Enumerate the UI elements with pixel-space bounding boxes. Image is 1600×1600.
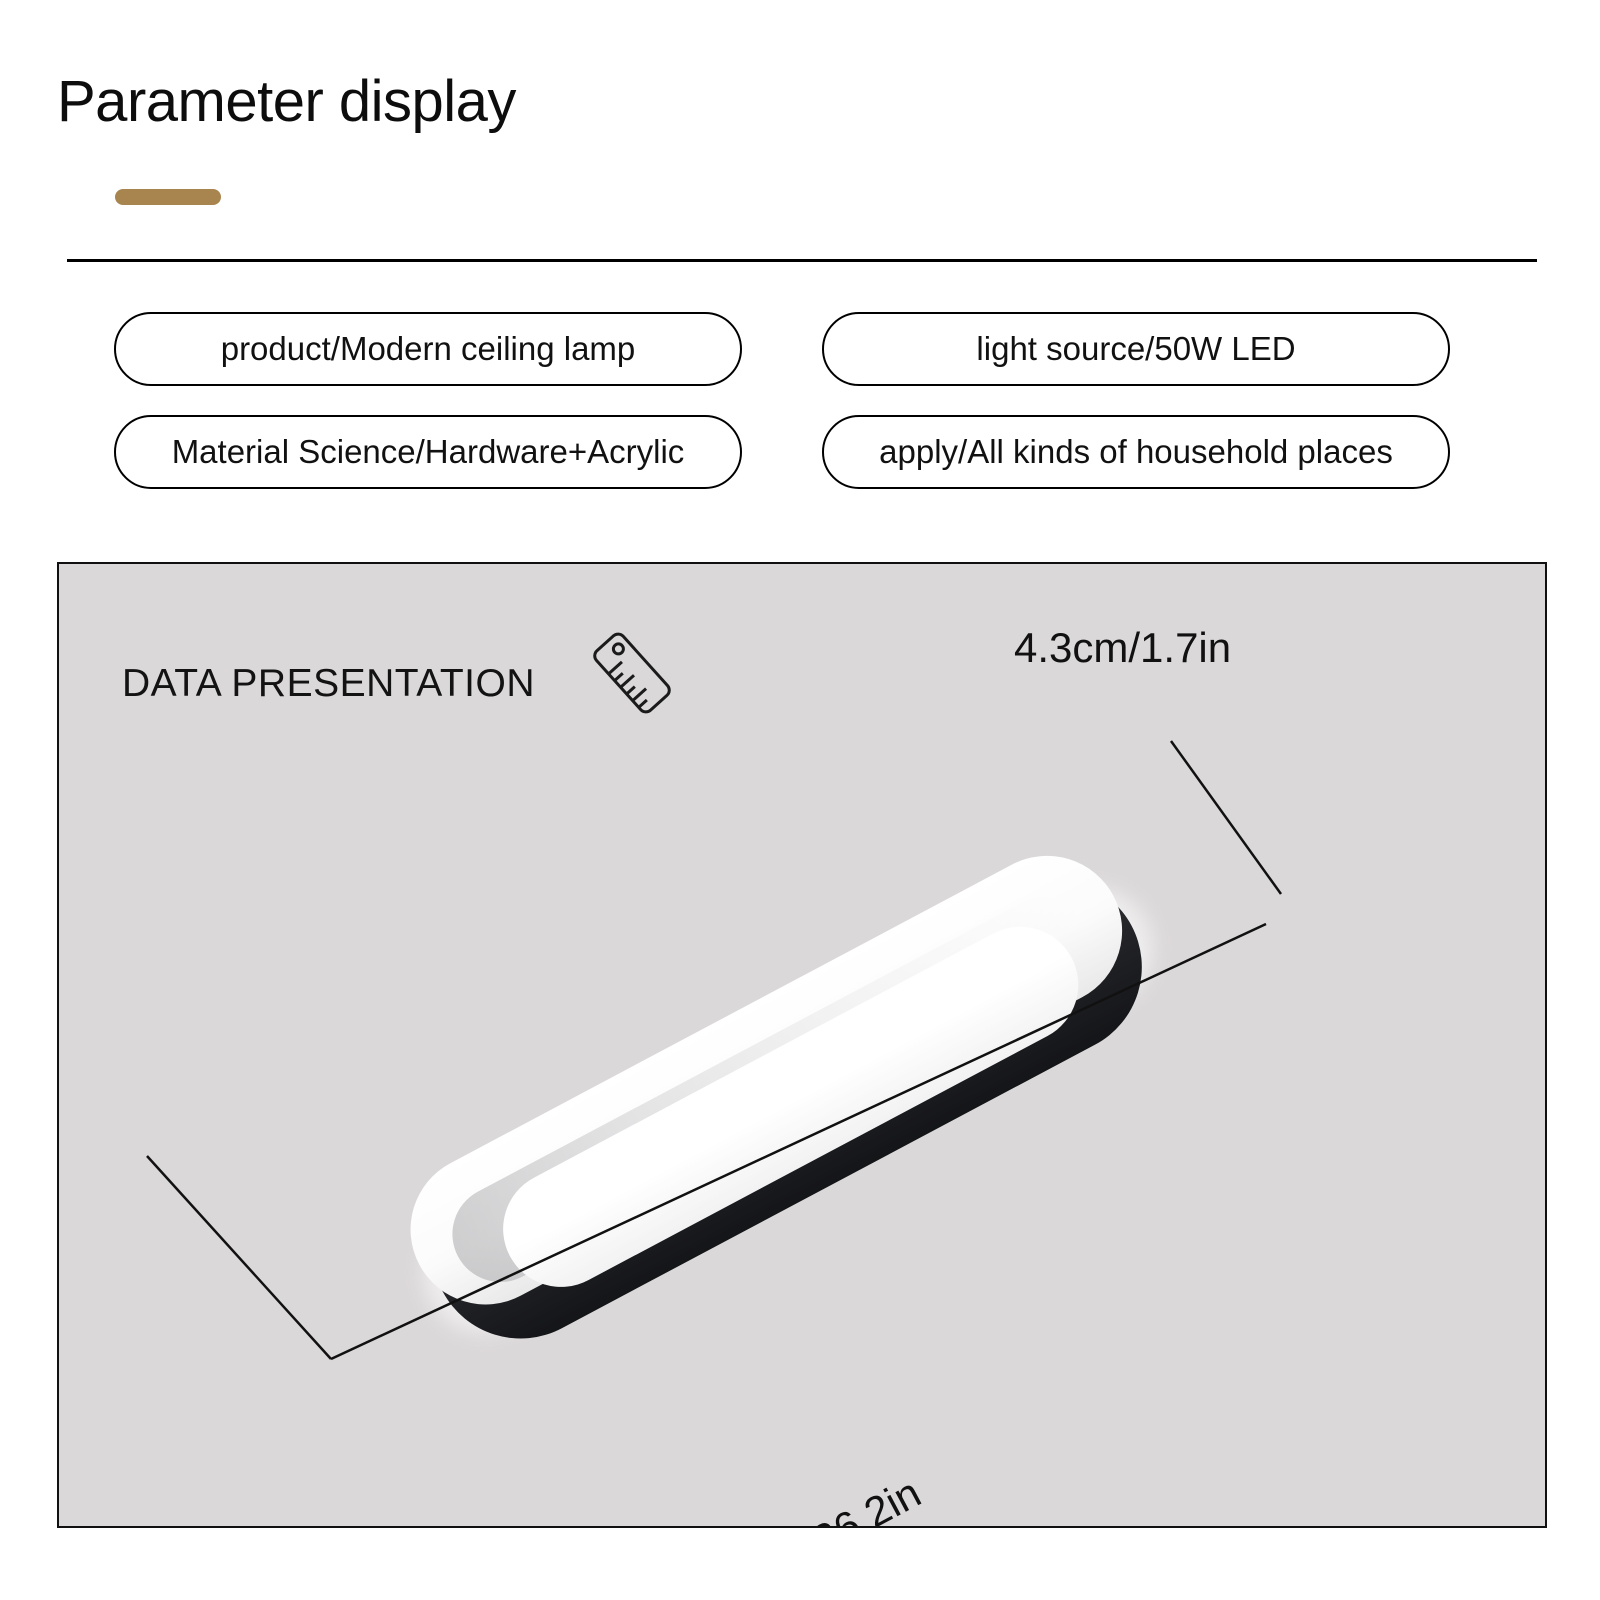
length-dimension-line [331,924,1266,1359]
spec-pill-material-label: Material Science/Hardware+Acrylic [172,433,685,471]
spec-pill-material[interactable]: Material Science/Hardware+Acrylic [114,415,742,489]
title-accent-bar [115,189,221,205]
spec-pill-product-label: product/Modern ceiling lamp [221,330,636,368]
spec-pill-product[interactable]: product/Modern ceiling lamp [114,312,742,386]
dimension-lines [59,564,1547,1528]
data-presentation-panel: DATA PRESENTATION [57,562,1547,1528]
spec-pill-apply[interactable]: apply/All kinds of household places [822,415,1450,489]
dimension-height-label: 4.3cm/1.7in [1014,624,1231,672]
width-dimension-line [147,1156,331,1359]
spec-pill-light-source[interactable]: light source/50W LED [822,312,1450,386]
page-title: Parameter display [57,70,516,134]
header-divider [67,259,1537,262]
height-leader-line [1171,741,1281,894]
spec-pill-light-source-label: light source/50W LED [976,330,1295,368]
spec-pill-apply-label: apply/All kinds of household places [879,433,1393,471]
